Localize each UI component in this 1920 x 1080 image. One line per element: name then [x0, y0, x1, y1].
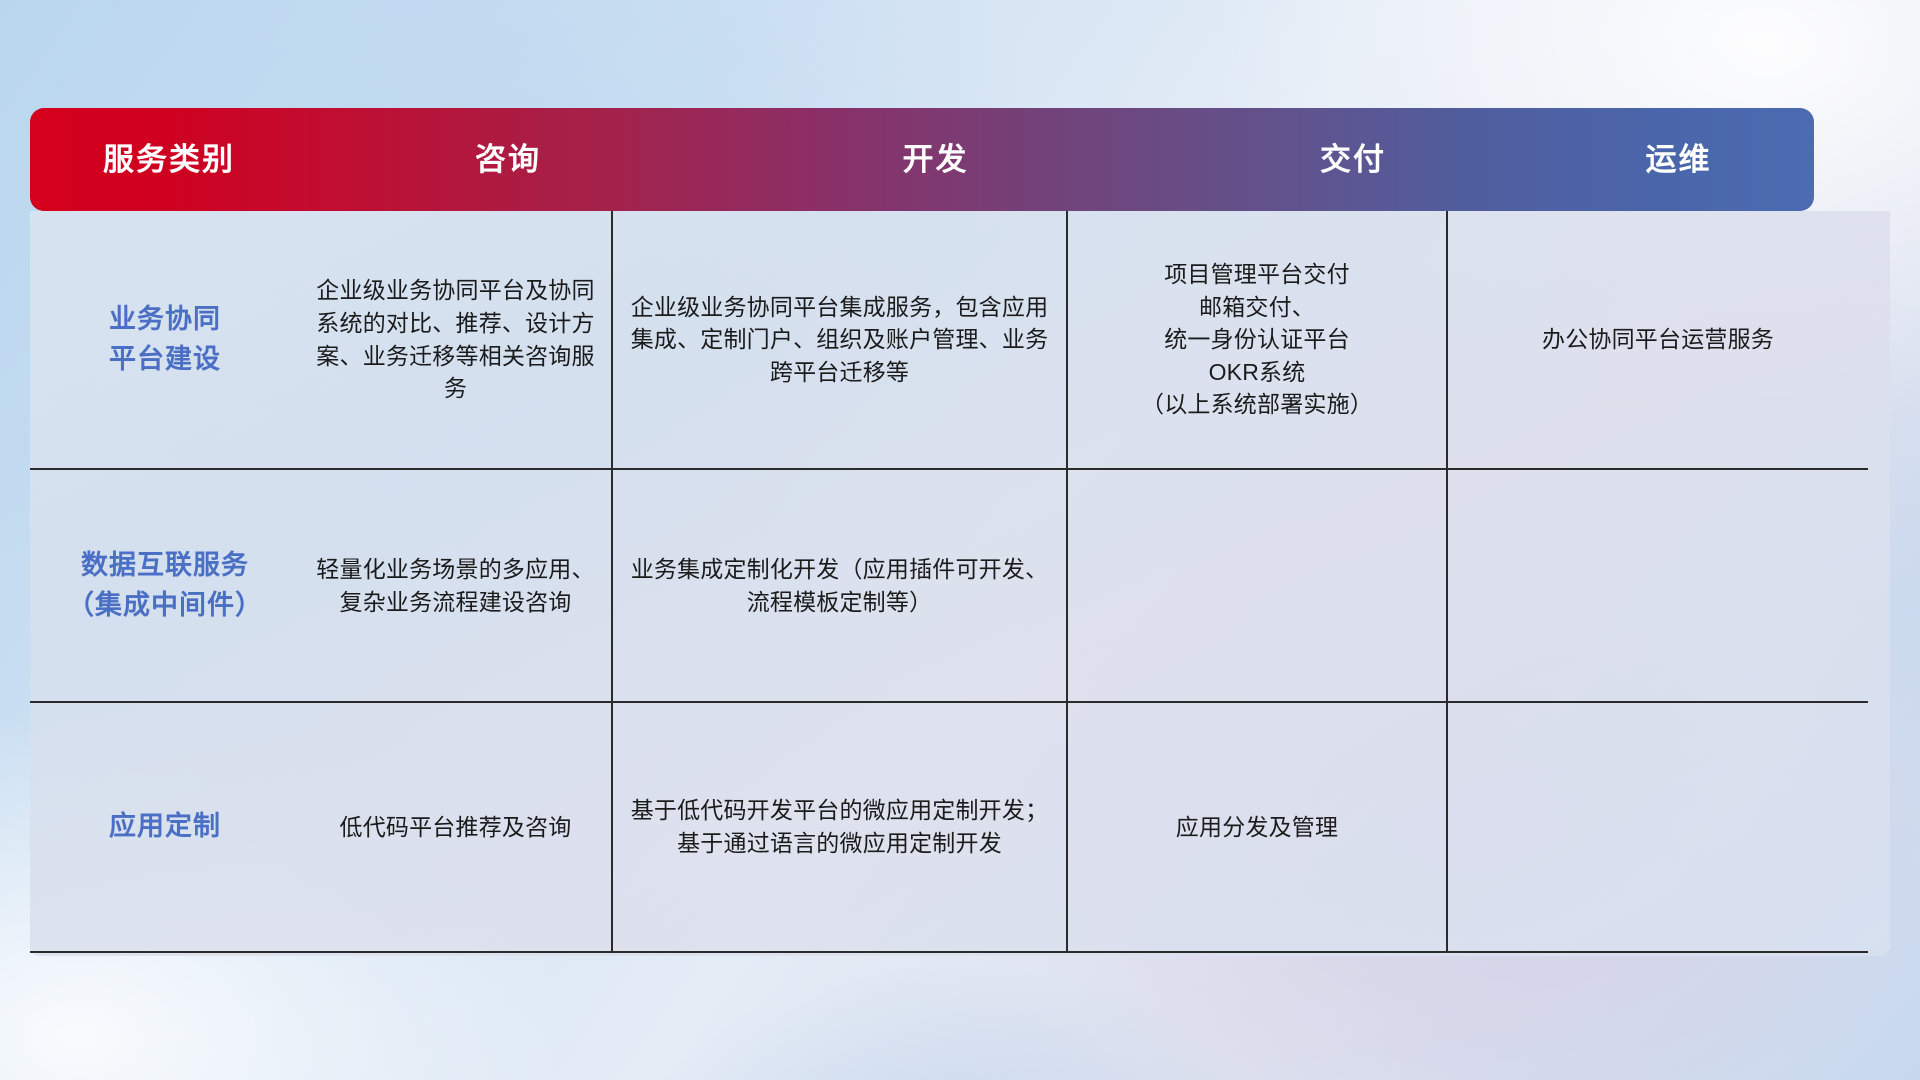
table-row: 应用定制 低代码平台推荐及咨询 基于低代码开发平台的微应用定制开发； 基于通过语… [30, 702, 1868, 952]
row-category-line1: 应用定制 [40, 807, 290, 846]
cell-consulting: 企业级业务协同平台及协同系统的对比、推荐、设计方案、业务迁移等相关咨询服务 [300, 211, 612, 469]
row-category-line2: （集成中间件） [40, 586, 290, 625]
row-category-line1: 业务协同 [40, 300, 290, 339]
cell-operations [1447, 469, 1868, 702]
table-grid: 业务协同 平台建设 企业级业务协同平台及协同系统的对比、推荐、设计方案、业务迁移… [30, 211, 1868, 953]
cell-development: 业务集成定制化开发（应用插件可开发、流程模板定制等） [612, 469, 1067, 702]
cell-development: 企业级业务协同平台集成服务，包含应用集成、定制门户、组织及账户管理、业务跨平台迁… [612, 211, 1067, 469]
cell-consulting: 低代码平台推荐及咨询 [300, 702, 612, 952]
row-category-label: 业务协同 平台建设 [30, 211, 300, 469]
table-header-bar: 服务类别 咨询 开发 交付 运维 [30, 108, 1814, 211]
column-header-operations: 运维 [1543, 144, 1814, 175]
cell-operations: 办公协同平台运营服务 [1447, 211, 1868, 469]
table-row: 业务协同 平台建设 企业级业务协同平台及协同系统的对比、推荐、设计方案、业务迁移… [30, 211, 1868, 469]
table-body-panel: 业务协同 平台建设 企业级业务协同平台及协同系统的对比、推荐、设计方案、业务迁移… [30, 211, 1890, 956]
column-header-delivery: 交付 [1163, 144, 1543, 175]
column-header-consulting: 咨询 [308, 144, 708, 175]
cell-delivery [1067, 469, 1447, 702]
table-row: 数据互联服务 （集成中间件） 轻量化业务场景的多应用、复杂业务流程建设咨询 业务… [30, 469, 1868, 702]
cell-development: 基于低代码开发平台的微应用定制开发； 基于通过语言的微应用定制开发 [612, 702, 1067, 952]
row-category-line2: 平台建设 [40, 340, 290, 379]
cell-delivery: 应用分发及管理 [1067, 702, 1447, 952]
row-category-label: 应用定制 [30, 702, 300, 952]
cell-consulting: 轻量化业务场景的多应用、复杂业务流程建设咨询 [300, 469, 612, 702]
row-category-line1: 数据互联服务 [40, 546, 290, 585]
cell-delivery: 项目管理平台交付 邮箱交付、 统一身份认证平台 OKR系统 （以上系统部署实施） [1067, 211, 1447, 469]
column-header-development: 开发 [708, 144, 1163, 175]
row-category-label: 数据互联服务 （集成中间件） [30, 469, 300, 702]
column-header-category: 服务类别 [30, 144, 308, 175]
service-matrix-table: 服务类别 咨询 开发 交付 运维 业务协同 平台建设 企业级业务协同平台及协同系… [30, 108, 1890, 956]
cell-operations [1447, 702, 1868, 952]
